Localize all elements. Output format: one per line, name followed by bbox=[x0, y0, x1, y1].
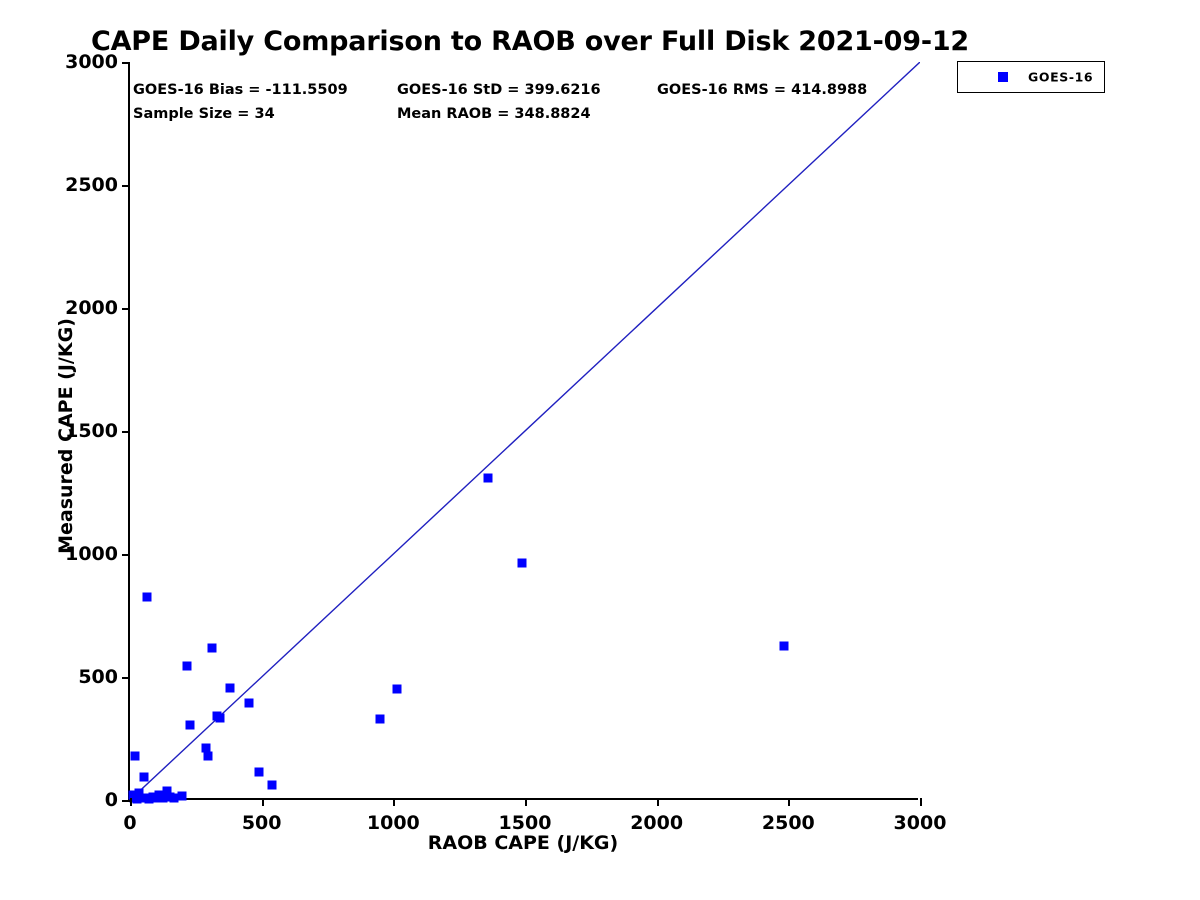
data-point-marker bbox=[268, 780, 277, 789]
chart-annotation: GOES-16 StD = 399.6216 bbox=[397, 82, 601, 98]
data-point-marker bbox=[139, 772, 148, 781]
chart-annotation: GOES-16 RMS = 414.8988 bbox=[657, 82, 867, 98]
y-axis-tick bbox=[122, 554, 130, 556]
y-axis-label: Measured CAPE (J/KG) bbox=[55, 67, 77, 805]
x-axis-tick bbox=[262, 798, 264, 806]
data-point-marker bbox=[393, 684, 402, 693]
page-title: CAPE Daily Comparison to RAOB over Full … bbox=[0, 26, 1060, 57]
legend-marker-goes-16 bbox=[998, 72, 1008, 82]
y-axis-tick bbox=[122, 677, 130, 679]
x-axis-tick bbox=[657, 798, 659, 806]
data-point-marker bbox=[143, 593, 152, 602]
x-axis-tick bbox=[788, 798, 790, 806]
x-axis-tick bbox=[525, 798, 527, 806]
x-axis-tick bbox=[393, 798, 395, 806]
y-axis-tick bbox=[122, 431, 130, 433]
scatter-plot-figure: CAPE Daily Comparison to RAOB over Full … bbox=[0, 0, 1200, 900]
data-point-marker bbox=[177, 791, 186, 800]
data-point-marker bbox=[780, 641, 789, 650]
y-axis-tick-label: 500 bbox=[78, 666, 118, 688]
x-axis-tick bbox=[920, 798, 922, 806]
data-point-marker bbox=[182, 661, 191, 670]
data-point-marker bbox=[203, 752, 212, 761]
x-axis-tick bbox=[130, 798, 132, 806]
data-point-marker bbox=[245, 698, 254, 707]
x-axis-tick-label: 1500 bbox=[499, 812, 552, 834]
data-point-marker bbox=[376, 714, 385, 723]
data-point-marker bbox=[225, 684, 234, 693]
plot-canvas bbox=[130, 62, 920, 800]
x-axis-tick-label: 2500 bbox=[762, 812, 815, 834]
x-axis-tick-label: 500 bbox=[242, 812, 282, 834]
data-point-marker bbox=[254, 767, 263, 776]
x-axis-tick-label: 3000 bbox=[894, 812, 947, 834]
data-point-marker bbox=[131, 751, 140, 760]
data-point-marker bbox=[518, 559, 527, 568]
chart-annotation: GOES-16 Bias = -111.5509 bbox=[133, 82, 348, 98]
x-axis-tick-label: 1000 bbox=[367, 812, 420, 834]
one-to-one-reference-line bbox=[130, 62, 920, 800]
y-axis-tick bbox=[122, 185, 130, 187]
plot-area: 0500100015002000250030000500100015002000… bbox=[128, 62, 918, 800]
data-point-marker bbox=[186, 720, 195, 729]
y-axis-tick bbox=[122, 308, 130, 310]
legend: GOES-16 bbox=[957, 61, 1105, 93]
data-point-marker bbox=[207, 644, 216, 653]
y-axis-tick bbox=[122, 62, 130, 64]
y-axis-tick-label: 0 bbox=[105, 789, 118, 811]
data-point-marker bbox=[484, 473, 493, 482]
data-point-marker bbox=[216, 713, 225, 722]
y-axis-tick bbox=[122, 800, 130, 802]
chart-annotation: Sample Size = 34 bbox=[133, 106, 275, 122]
chart-annotation: Mean RAOB = 348.8824 bbox=[397, 106, 591, 122]
x-axis-label: RAOB CAPE (J/KG) bbox=[128, 832, 918, 854]
x-axis-tick-label: 2000 bbox=[630, 812, 683, 834]
x-axis-tick-label: 0 bbox=[123, 812, 136, 834]
legend-label-goes-16: GOES-16 bbox=[1028, 70, 1093, 85]
